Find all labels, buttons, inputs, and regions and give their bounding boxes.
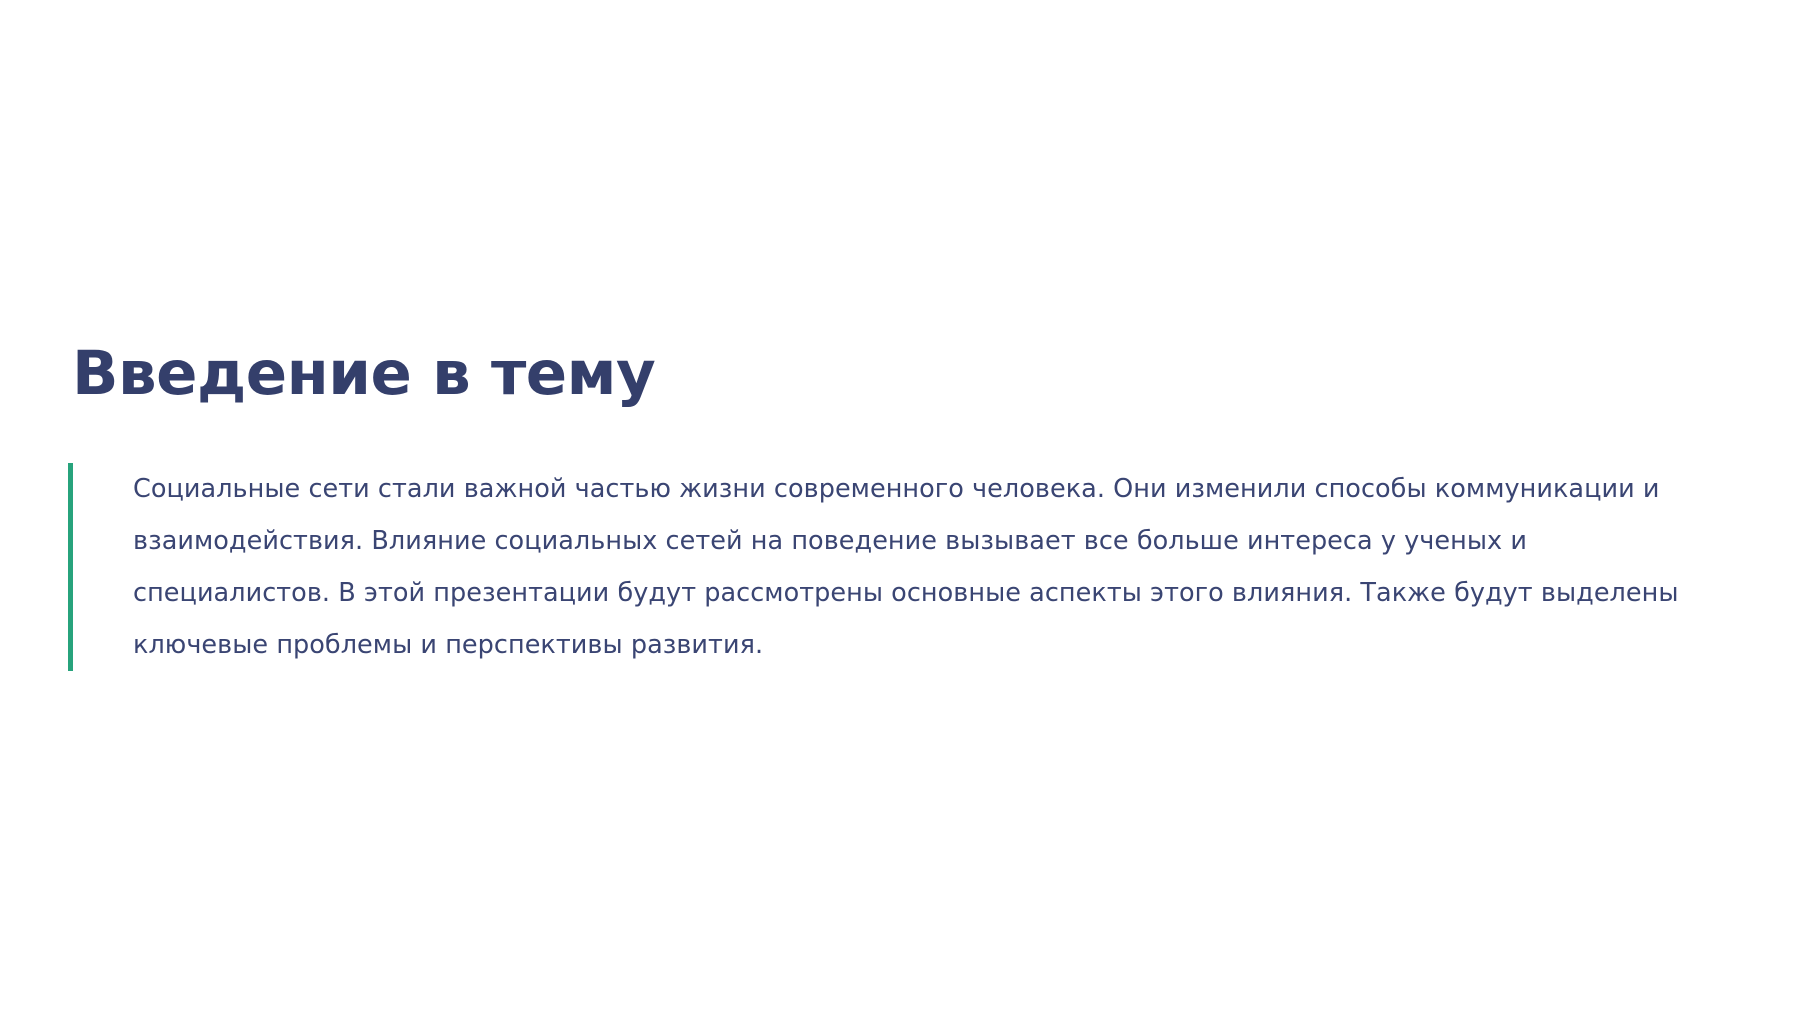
presentation-slide: Введение в тему Социальные сети стали ва… <box>0 0 1800 1013</box>
body-paragraph: Социальные сети стали важной частью жизн… <box>73 463 1708 671</box>
page-title: Введение в тему <box>72 340 655 408</box>
body-content-block: Социальные сети стали важной частью жизн… <box>68 463 1708 671</box>
